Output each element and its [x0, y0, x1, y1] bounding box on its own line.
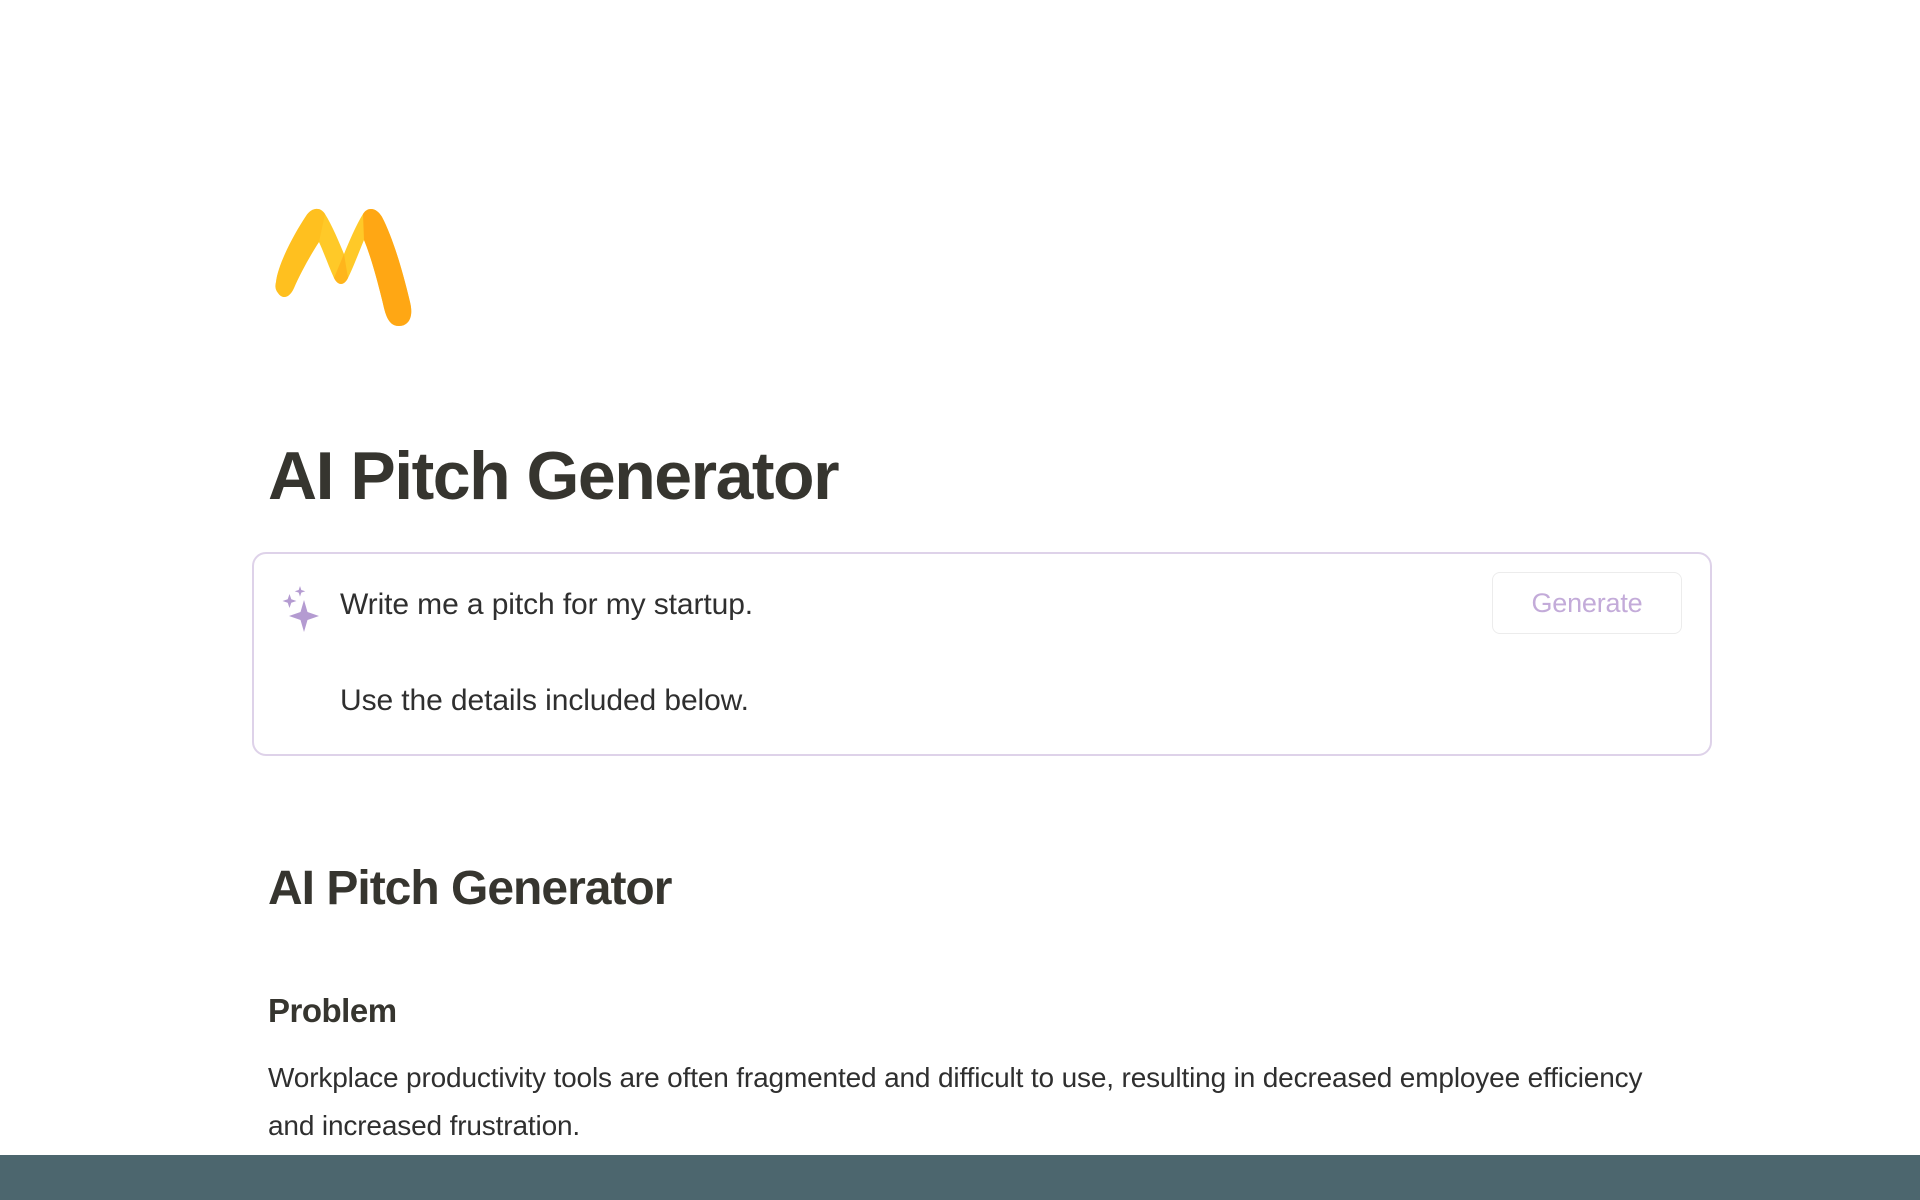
sparkle-icon — [280, 586, 322, 632]
marketer-m-logo-icon — [268, 196, 420, 332]
page-title: AI Pitch Generator — [268, 437, 838, 515]
prompt-line-1[interactable]: Write me a pitch for my startup. — [340, 584, 753, 626]
prompt-text-block[interactable]: Write me a pitch for my startup. Use the… — [340, 580, 753, 722]
prompt-row: Write me a pitch for my startup. Use the… — [280, 580, 1684, 722]
prompt-line-2[interactable]: Use the details included below. — [340, 680, 753, 722]
section-heading-problem: Problem — [268, 990, 1668, 1032]
generated-document: AI Pitch Generator Problem Workplace pro… — [268, 860, 1668, 1150]
document-title: AI Pitch Generator — [268, 860, 1668, 918]
bottom-bar — [0, 1155, 1920, 1200]
app-root: AI Pitch Generator Write me a pitch for … — [0, 0, 1920, 1200]
generate-button[interactable]: Generate — [1492, 572, 1682, 634]
prompt-card[interactable]: Write me a pitch for my startup. Use the… — [252, 552, 1712, 756]
section-body-problem: Workplace productivity tools are often f… — [268, 1054, 1648, 1150]
